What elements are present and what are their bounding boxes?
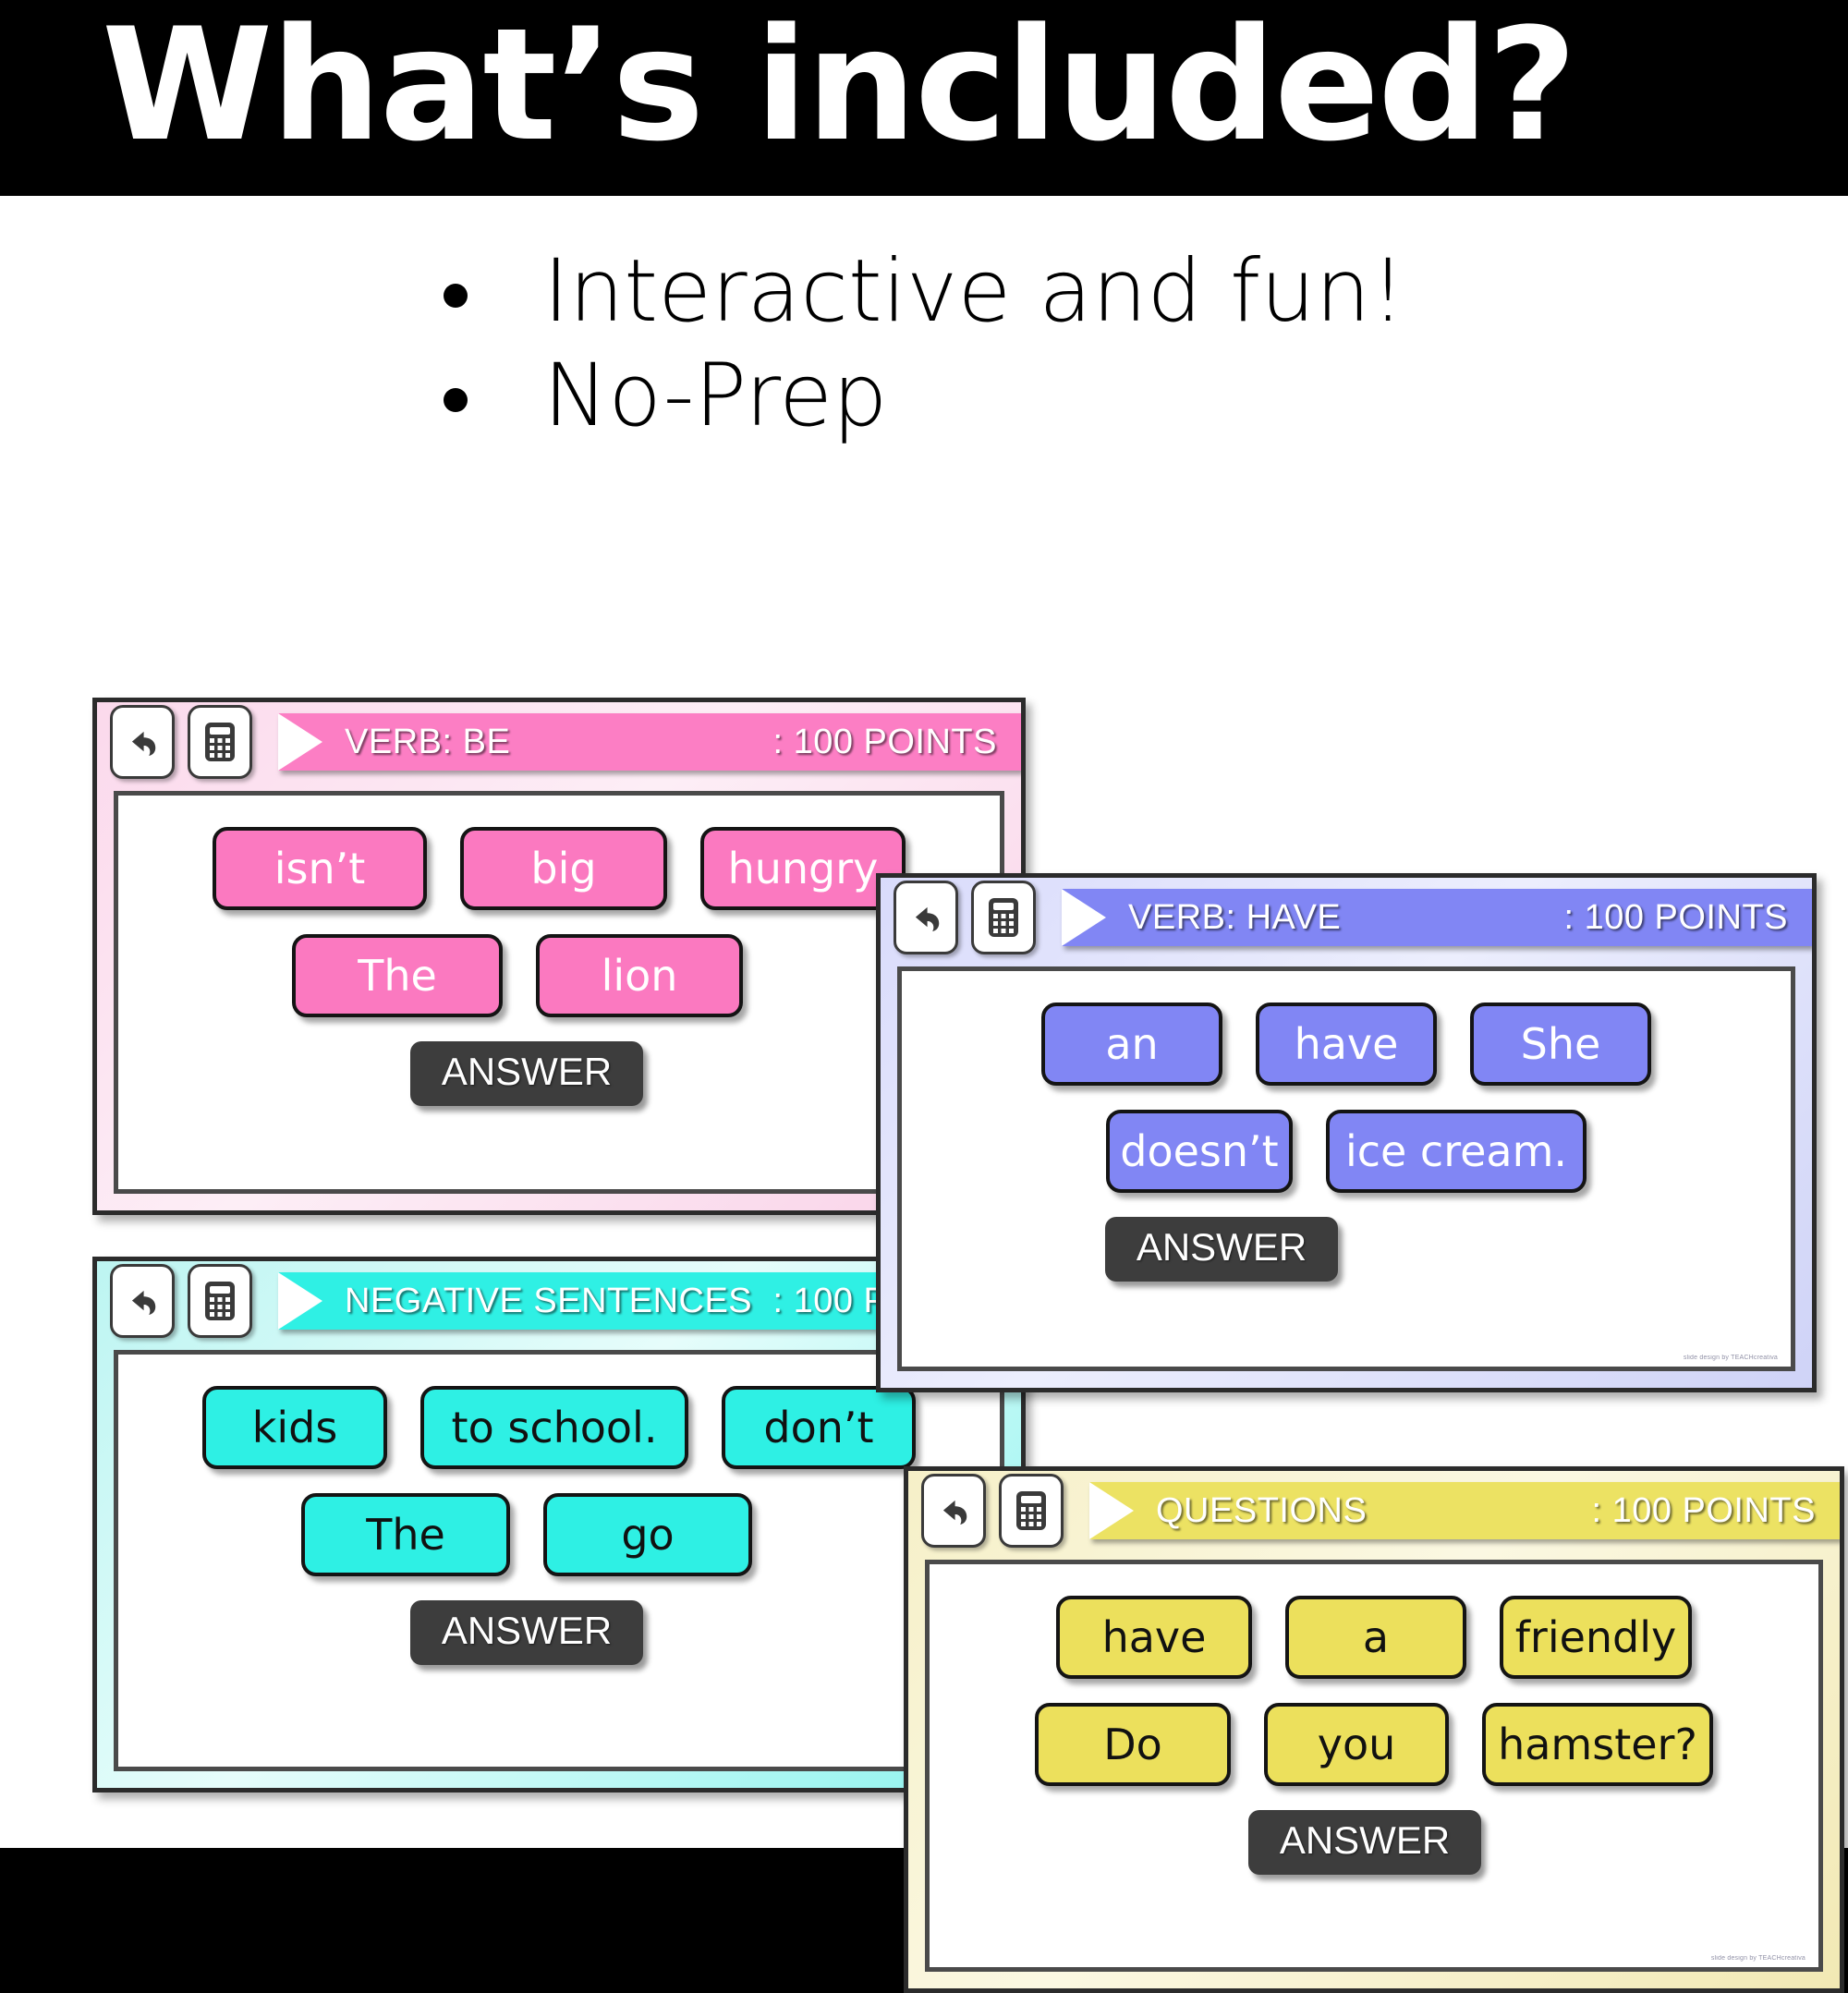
word-tile-grid: have a friendly Do you hamster? — [930, 1564, 1818, 1786]
word-tile-row: doesn’t ice cream. — [902, 1110, 1791, 1193]
word-tile[interactable]: big — [460, 827, 667, 910]
answer-button[interactable]: ANSWER — [410, 1041, 643, 1106]
credit-text: slide design by TEACHcreativa — [1684, 1355, 1778, 1361]
word-tile-row: kids to school. don’t — [118, 1386, 1000, 1469]
word-tile[interactable]: She — [1470, 1003, 1651, 1086]
word-tile[interactable]: hamster? — [1482, 1703, 1713, 1786]
back-arrow-icon[interactable] — [894, 881, 958, 954]
answer-button-row: ANSWER — [92, 1041, 1000, 1106]
word-tile-grid: isn’t big hungry The lion — [118, 796, 1000, 1017]
word-tile-row: The lion — [92, 934, 1000, 1017]
back-arrow-icon[interactable] — [110, 1264, 175, 1338]
slide-body: Interactive and fun! No-Prep — [0, 196, 1848, 1848]
slide-canvas: What’s included? Interactive and fun! No… — [0, 0, 1848, 1848]
category-ribbon: VERB: BE : 100 POINTS — [278, 713, 1021, 771]
credit-text: slide design by TEACHcreativa — [1711, 1955, 1805, 1962]
word-tile[interactable]: kids — [202, 1386, 387, 1469]
word-tile[interactable]: Do — [1035, 1703, 1231, 1786]
word-tile-row: Do you hamster? — [930, 1703, 1818, 1786]
activity-card-questions[interactable]: QUESTIONS : 100 POINTS have a friendly D… — [904, 1466, 1844, 1993]
category-ribbon: VERB: HAVE : 100 POINTS — [1062, 889, 1812, 946]
card-header: QUESTIONS : 100 POINTS — [908, 1471, 1840, 1550]
word-tile-row: have a friendly — [930, 1596, 1818, 1679]
list-item: No-Prep — [444, 351, 1405, 443]
category-label: NEGATIVE SENTENCES — [345, 1282, 752, 1321]
word-tile[interactable]: lion — [536, 934, 743, 1017]
word-tile[interactable]: have — [1056, 1596, 1252, 1679]
title-band: What’s included? — [0, 0, 1848, 196]
word-tile[interactable]: go — [543, 1493, 752, 1576]
category-label: VERB: HAVE — [1128, 898, 1341, 938]
category-label: VERB: BE — [345, 723, 510, 762]
feature-bullet-list: Interactive and fun! No-Prep — [444, 247, 1405, 455]
card-stage: isn’t big hungry The lion ANSWER — [114, 791, 1004, 1194]
word-tile[interactable]: to school. — [420, 1386, 688, 1469]
back-arrow-icon[interactable] — [110, 705, 175, 779]
card-stage: an have She doesn’t ice cream. ANSWER sl… — [897, 966, 1795, 1371]
answer-button-row: ANSWER — [911, 1810, 1818, 1875]
word-tile[interactable]: an — [1041, 1003, 1222, 1086]
word-tile-grid: kids to school. don’t The go — [118, 1355, 1000, 1576]
word-tile[interactable]: don’t — [722, 1386, 916, 1469]
points-label: : 100 POINTS — [1591, 1491, 1816, 1531]
calculator-icon[interactable] — [188, 705, 252, 779]
word-tile[interactable]: a — [1285, 1596, 1466, 1679]
answer-button[interactable]: ANSWER — [410, 1600, 643, 1665]
word-tile[interactable]: hungry — [700, 827, 906, 910]
bullet-dot-icon — [444, 388, 468, 412]
word-tile-row: an have She — [902, 1003, 1791, 1086]
card-header: VERB: HAVE : 100 POINTS — [881, 878, 1812, 957]
card-stage: have a friendly Do you hamster? ANSWER s… — [925, 1560, 1823, 1972]
calculator-icon[interactable] — [971, 881, 1036, 954]
list-item: Interactive and fun! — [444, 247, 1405, 338]
calculator-icon[interactable] — [188, 1264, 252, 1338]
bullet-label: No-Prep — [543, 351, 888, 443]
word-tile[interactable]: have — [1256, 1003, 1437, 1086]
calculator-icon[interactable] — [999, 1474, 1064, 1548]
word-tile[interactable]: isn’t — [213, 827, 427, 910]
word-tile-row: isn’t big hungry — [118, 827, 1000, 910]
word-tile[interactable]: The — [292, 934, 503, 1017]
activity-card-verb-have[interactable]: VERB: HAVE : 100 POINTS an have She does… — [876, 873, 1817, 1392]
word-tile[interactable]: doesn’t — [1106, 1110, 1293, 1193]
word-tile[interactable]: ice cream. — [1326, 1110, 1587, 1193]
answer-button[interactable]: ANSWER — [1105, 1217, 1338, 1282]
page-title: What’s included? — [102, 7, 1575, 163]
word-tile[interactable]: you — [1264, 1703, 1449, 1786]
category-label: QUESTIONS — [1156, 1491, 1367, 1531]
bullet-dot-icon — [444, 284, 468, 308]
points-label: : 100 POINTS — [772, 723, 997, 762]
points-label: : 100 POINTS — [1563, 898, 1788, 938]
card-header: VERB: BE : 100 POINTS — [97, 702, 1021, 782]
answer-button-row: ANSWER — [876, 1217, 1791, 1282]
back-arrow-icon[interactable] — [921, 1474, 986, 1548]
answer-button-row: ANSWER — [92, 1600, 1000, 1665]
answer-button[interactable]: ANSWER — [1248, 1810, 1481, 1875]
word-tile[interactable]: friendly — [1500, 1596, 1692, 1679]
word-tile-row: The go — [92, 1493, 1000, 1576]
category-ribbon: QUESTIONS : 100 POINTS — [1089, 1482, 1840, 1539]
word-tile-grid: an have She doesn’t ice cream. — [902, 971, 1791, 1193]
card-stage: kids to school. don’t The go ANSWER — [114, 1350, 1004, 1771]
word-tile[interactable]: The — [301, 1493, 510, 1576]
bullet-label: Interactive and fun! — [543, 247, 1405, 338]
